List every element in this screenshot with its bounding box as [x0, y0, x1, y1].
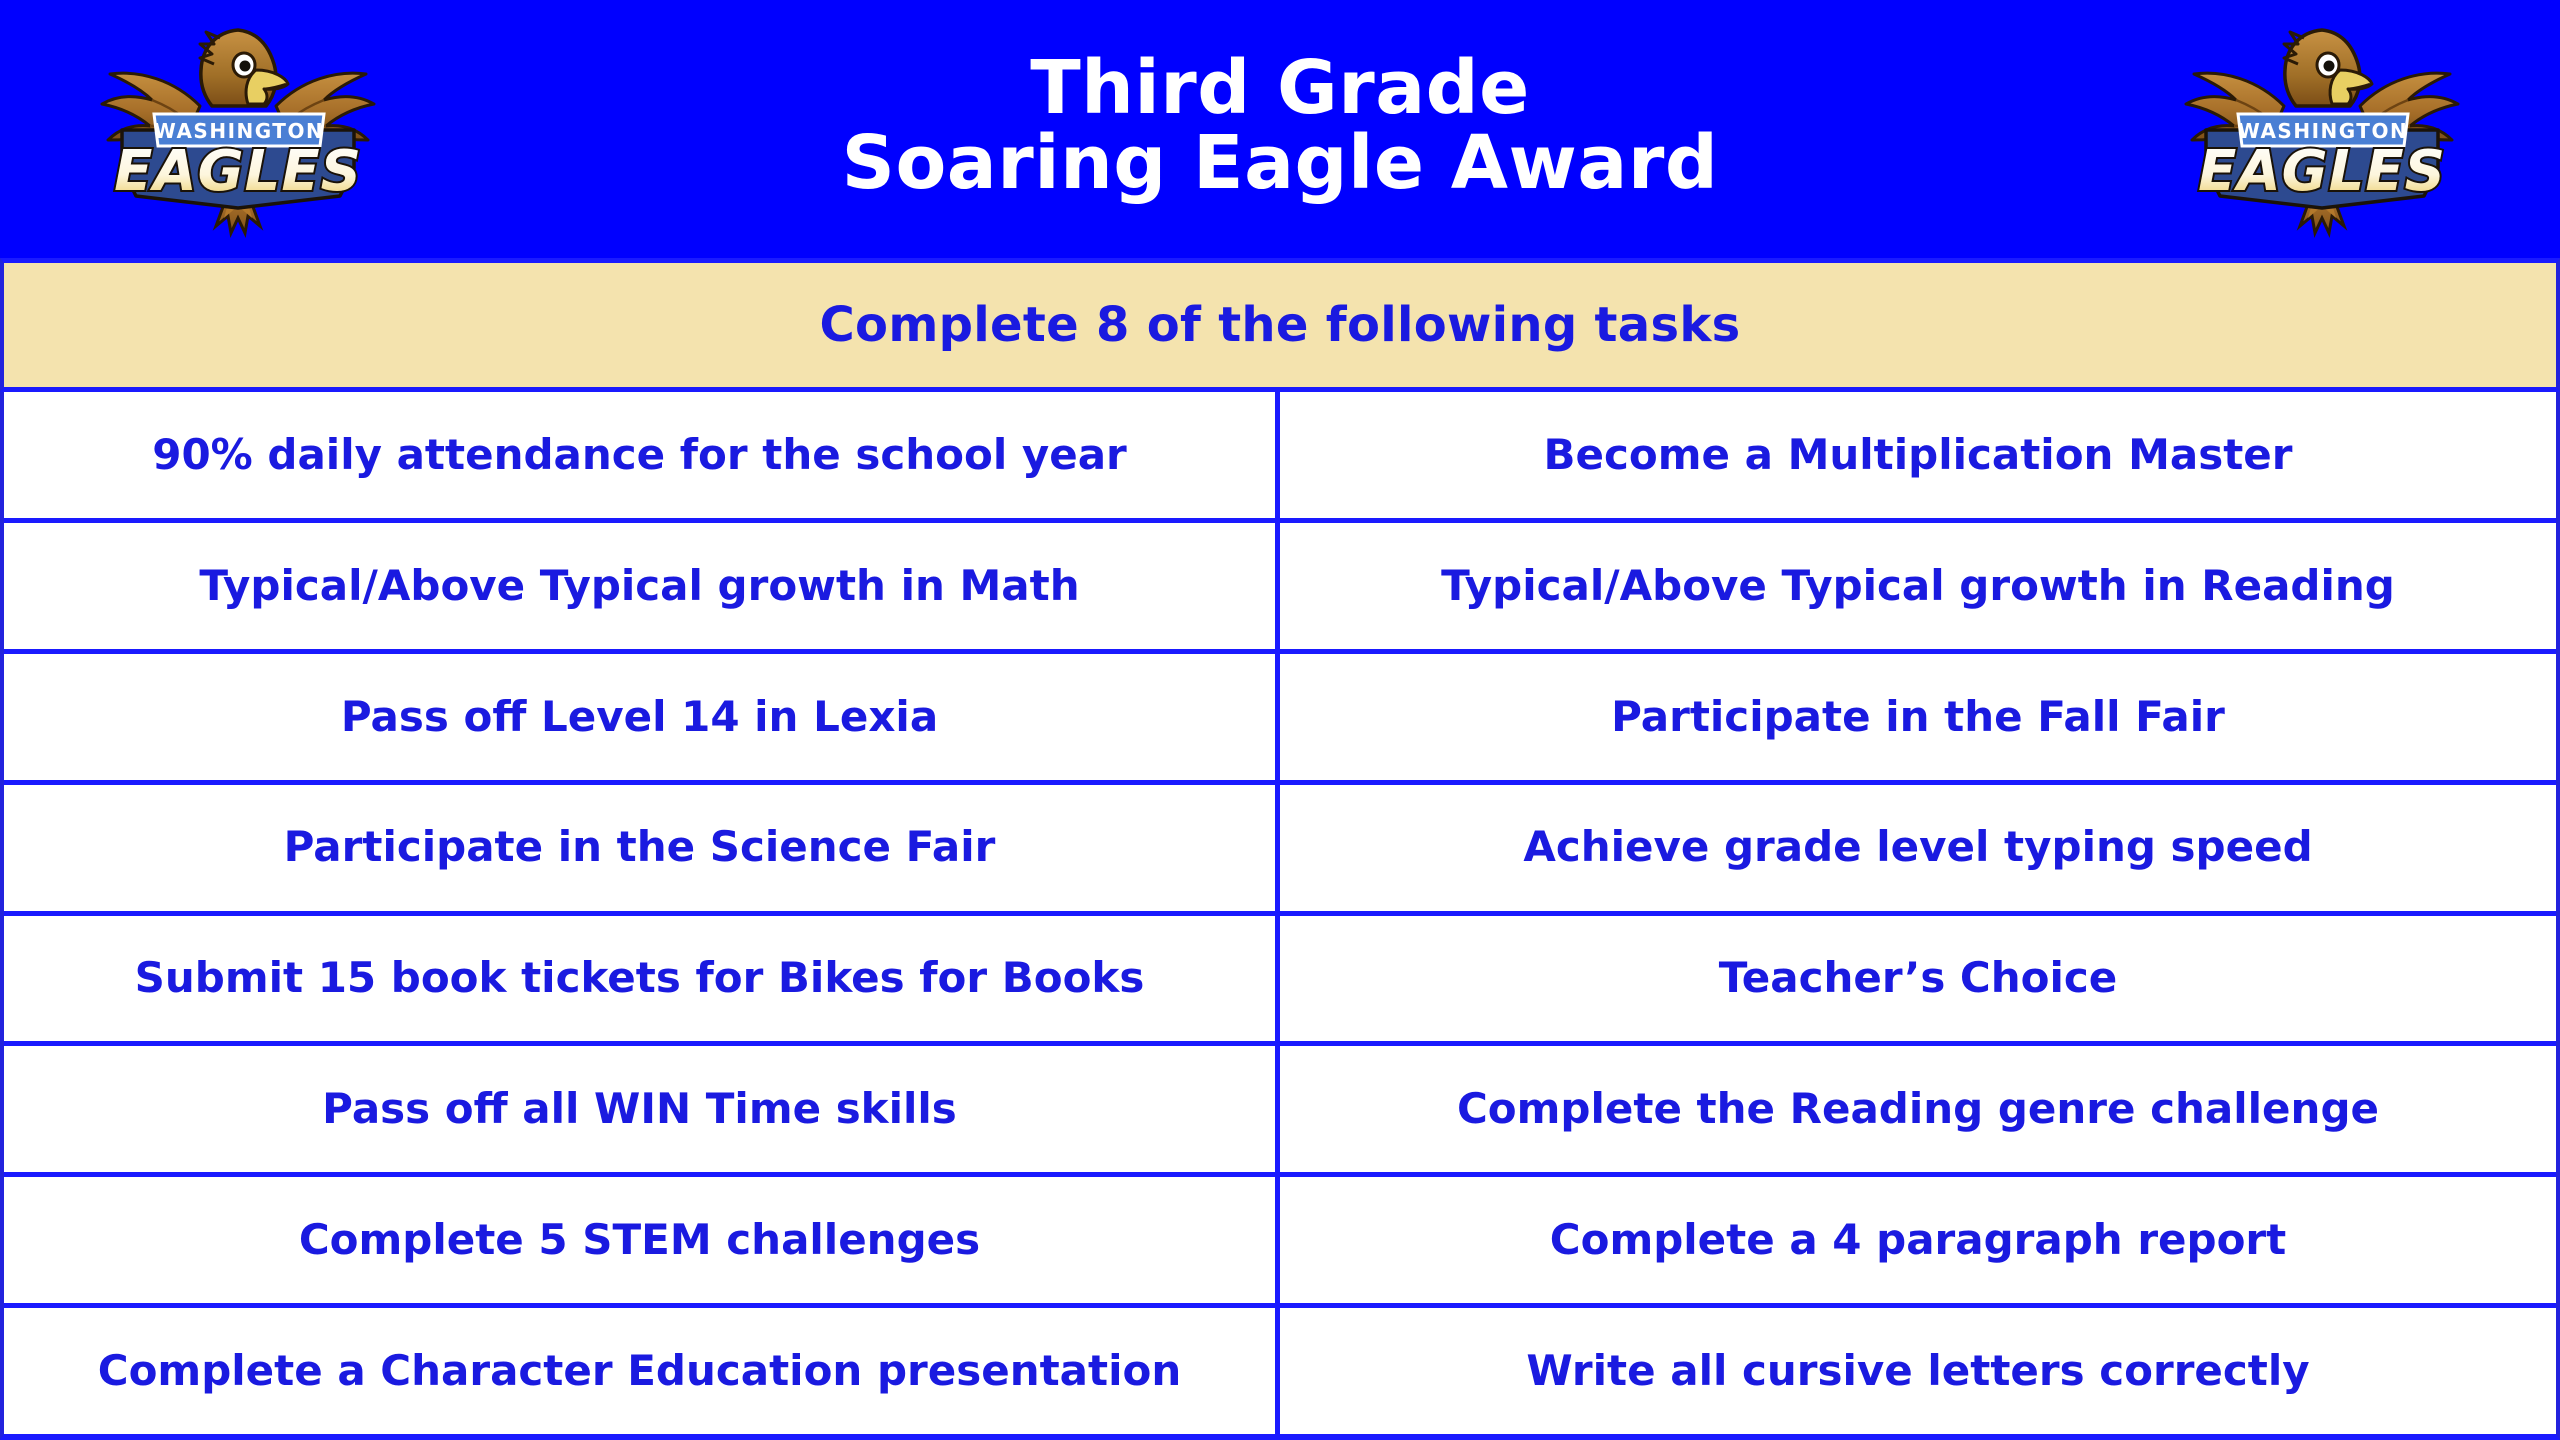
task-cell-left[interactable]: Complete a Character Education presentat…	[4, 1308, 1280, 1434]
logo-team-name: EAGLES	[114, 139, 362, 204]
task-cell-right[interactable]: Typical/Above Typical growth in Reading	[1280, 523, 2556, 649]
task-label: Write all cursive letters correctly	[1526, 1348, 2309, 1394]
instruction-band: Complete 8 of the following tasks	[0, 258, 2560, 392]
task-cell-left[interactable]: Submit 15 book tickets for Bikes for Boo…	[4, 916, 1280, 1042]
task-cell-right[interactable]: Participate in the Fall Fair	[1280, 654, 2556, 780]
task-label: Teacher’s Choice	[1719, 955, 2118, 1001]
task-cell-right[interactable]: Become a Multiplication Master	[1280, 392, 2556, 518]
task-cell-right[interactable]: Complete the Reading genre challenge	[1280, 1046, 2556, 1172]
logo-team-name: EAGLES	[2198, 139, 2446, 204]
table-row: 90% daily attendance for the school year…	[4, 392, 2556, 523]
task-cell-left[interactable]: Typical/Above Typical growth in Math	[4, 523, 1280, 649]
task-label: Typical/Above Typical growth in Reading	[1441, 563, 2395, 609]
task-label: Complete 5 STEM challenges	[299, 1217, 980, 1263]
table-row: Typical/Above Typical growth in Math Typ…	[4, 523, 2556, 654]
eagle-mascot-logo-right: WASHINGTON EAGLES	[2172, 18, 2472, 248]
task-label: 90% daily attendance for the school year	[152, 432, 1127, 478]
task-label: Participate in the Science Fair	[284, 824, 996, 870]
title-line-1: Third Grade	[842, 51, 1719, 126]
task-label: Participate in the Fall Fair	[1611, 694, 2225, 740]
task-label: Complete a Character Education presentat…	[98, 1348, 1182, 1394]
instruction-text: Complete 8 of the following tasks	[820, 297, 1741, 353]
eagle-mascot-logo-left: WASHINGTON EAGLES	[88, 18, 388, 248]
eagle-head	[2284, 30, 2372, 106]
task-label: Become a Multiplication Master	[1543, 432, 2292, 478]
table-row: Pass off all WIN Time skills Complete th…	[4, 1046, 2556, 1177]
task-cell-left[interactable]: Complete 5 STEM challenges	[4, 1177, 1280, 1303]
task-cell-left[interactable]: Pass off Level 14 in Lexia	[4, 654, 1280, 780]
task-cell-right[interactable]: Write all cursive letters correctly	[1280, 1308, 2556, 1434]
table-row: Complete a Character Education presentat…	[4, 1308, 2556, 1434]
task-cell-right[interactable]: Achieve grade level typing speed	[1280, 785, 2556, 911]
table-row: Pass off Level 14 in Lexia Participate i…	[4, 654, 2556, 785]
task-cell-left[interactable]: 90% daily attendance for the school year	[4, 392, 1280, 518]
task-cell-left[interactable]: Pass off all WIN Time skills	[4, 1046, 1280, 1172]
task-cell-right[interactable]: Complete a 4 paragraph report	[1280, 1177, 2556, 1303]
eagle-head	[200, 30, 288, 106]
task-label: Complete the Reading genre challenge	[1457, 1086, 2379, 1132]
poster-header: WASHINGTON EAGLES Third Grade Soaring Ea…	[0, 0, 2560, 258]
task-label: Pass off Level 14 in Lexia	[341, 694, 938, 740]
award-poster: WASHINGTON EAGLES Third Grade Soaring Ea…	[0, 0, 2560, 1440]
table-row: Submit 15 book tickets for Bikes for Boo…	[4, 916, 2556, 1047]
task-label: Pass off all WIN Time skills	[322, 1086, 957, 1132]
task-cell-right[interactable]: Teacher’s Choice	[1280, 916, 2556, 1042]
task-label: Typical/Above Typical growth in Math	[199, 563, 1079, 609]
task-label: Submit 15 book tickets for Bikes for Boo…	[135, 955, 1145, 1001]
table-row: Complete 5 STEM challenges Complete a 4 …	[4, 1177, 2556, 1308]
task-label: Complete a 4 paragraph report	[1550, 1217, 2286, 1263]
task-table: 90% daily attendance for the school year…	[0, 392, 2560, 1440]
task-label: Achieve grade level typing speed	[1523, 824, 2312, 870]
task-cell-left[interactable]: Participate in the Science Fair	[4, 785, 1280, 911]
title-line-2: Soaring Eagle Award	[842, 126, 1719, 201]
table-row: Participate in the Science Fair Achieve …	[4, 785, 2556, 916]
page-title: Third Grade Soaring Eagle Award	[842, 51, 1719, 208]
